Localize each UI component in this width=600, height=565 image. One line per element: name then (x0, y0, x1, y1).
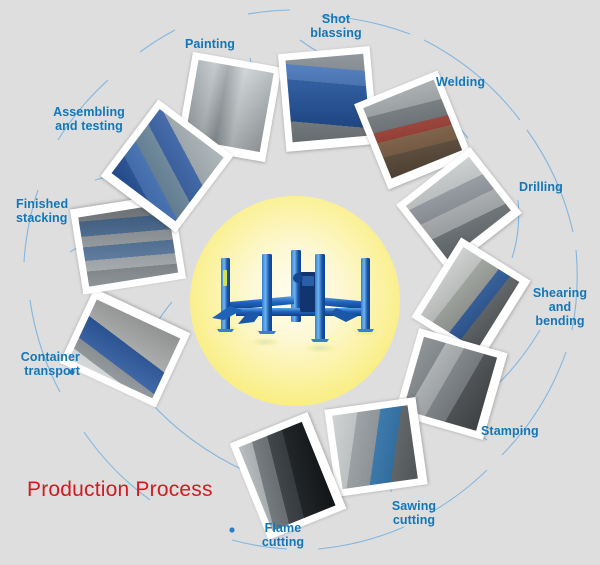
label-flame-cutting[interactable]: Flame cutting (251, 521, 315, 549)
four-post-vehicle-lift-icon (190, 196, 400, 406)
photo-shot-blassing-image (285, 54, 370, 142)
photo-sawing-cutting-image (332, 405, 418, 489)
production-process-diagram: Shot blassing Welding Drilling Shearing … (0, 0, 600, 565)
label-sawing-cutting[interactable]: Sawing cutting (378, 499, 450, 527)
label-container-transport[interactable]: Container transport (2, 350, 80, 378)
label-shot-blassing[interactable]: Shot blassing (300, 12, 372, 40)
label-shearing-and-bending[interactable]: Shearing and bending (524, 286, 596, 328)
label-welding[interactable]: Welding (436, 75, 508, 89)
label-finished-stacking[interactable]: Finished stacking (16, 197, 92, 225)
label-painting[interactable]: Painting (176, 37, 244, 51)
label-drilling[interactable]: Drilling (519, 180, 589, 194)
connector-dot-flame (229, 527, 234, 532)
label-assembling-and-testing[interactable]: Assembling and testing (44, 105, 134, 133)
photo-shot-blassing (278, 46, 378, 152)
photo-sawing-cutting (324, 397, 427, 497)
label-stamping[interactable]: Stamping (481, 424, 559, 438)
page-title: Production Process (27, 478, 213, 502)
